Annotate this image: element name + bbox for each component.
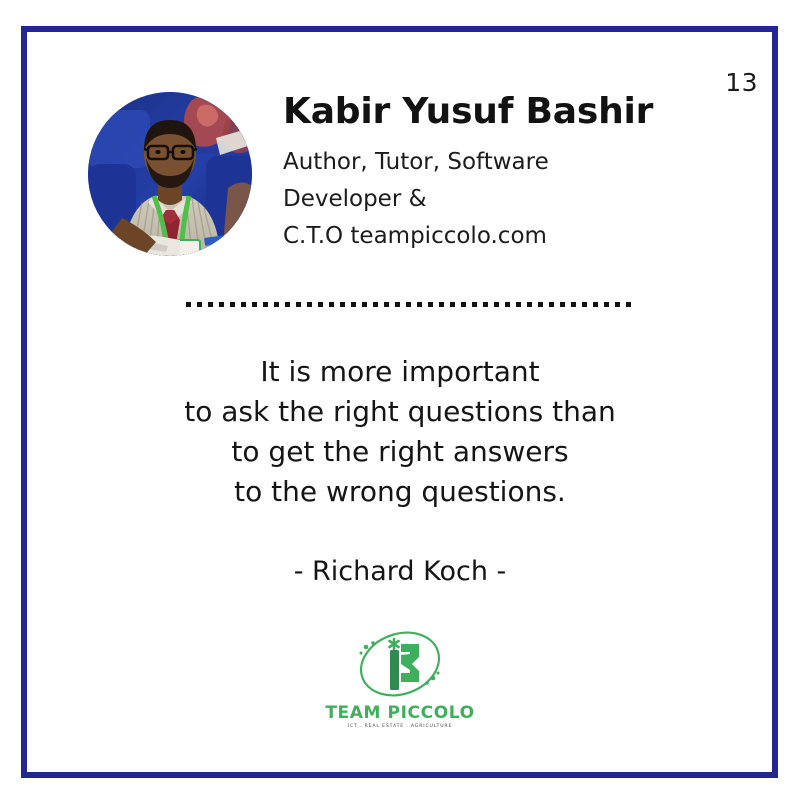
logo-tagline: ICT . REAL ESTATE . AGRICULTURE	[300, 724, 500, 729]
dotted-divider	[186, 302, 632, 307]
person-name: Kabir Yusuf Bashir	[283, 90, 683, 134]
logo-wordmark: TEAM PICCOLO	[300, 703, 500, 723]
role-line-3: C.T.O teampiccolo.com	[283, 218, 683, 255]
quote-line-2: to ask the right questions than	[0, 392, 800, 432]
avatar-photo	[88, 92, 252, 256]
quote-slide: 13	[0, 0, 800, 800]
piccolo-monogram-icon	[340, 630, 460, 702]
quote-line-4: to the wrong questions.	[0, 472, 800, 512]
role-line-2: Developer &	[283, 181, 683, 218]
quote-line-3: to get the right answers	[0, 432, 800, 472]
person-roles: Author, Tutor, Software Developer & C.T.…	[283, 144, 683, 255]
quote-attribution: - Richard Koch -	[0, 554, 800, 590]
team-piccolo-logo: TEAM PICCOLO ICT . REAL ESTATE . AGRICUL…	[300, 630, 500, 729]
identity-block: Kabir Yusuf Bashir Author, Tutor, Softwa…	[283, 90, 683, 255]
role-line-1: Author, Tutor, Software	[283, 144, 683, 181]
quote-block: It is more important to ask the right qu…	[0, 352, 800, 590]
page-number: 13	[725, 68, 758, 97]
quote-line-1: It is more important	[0, 352, 800, 392]
avatar	[88, 92, 252, 256]
